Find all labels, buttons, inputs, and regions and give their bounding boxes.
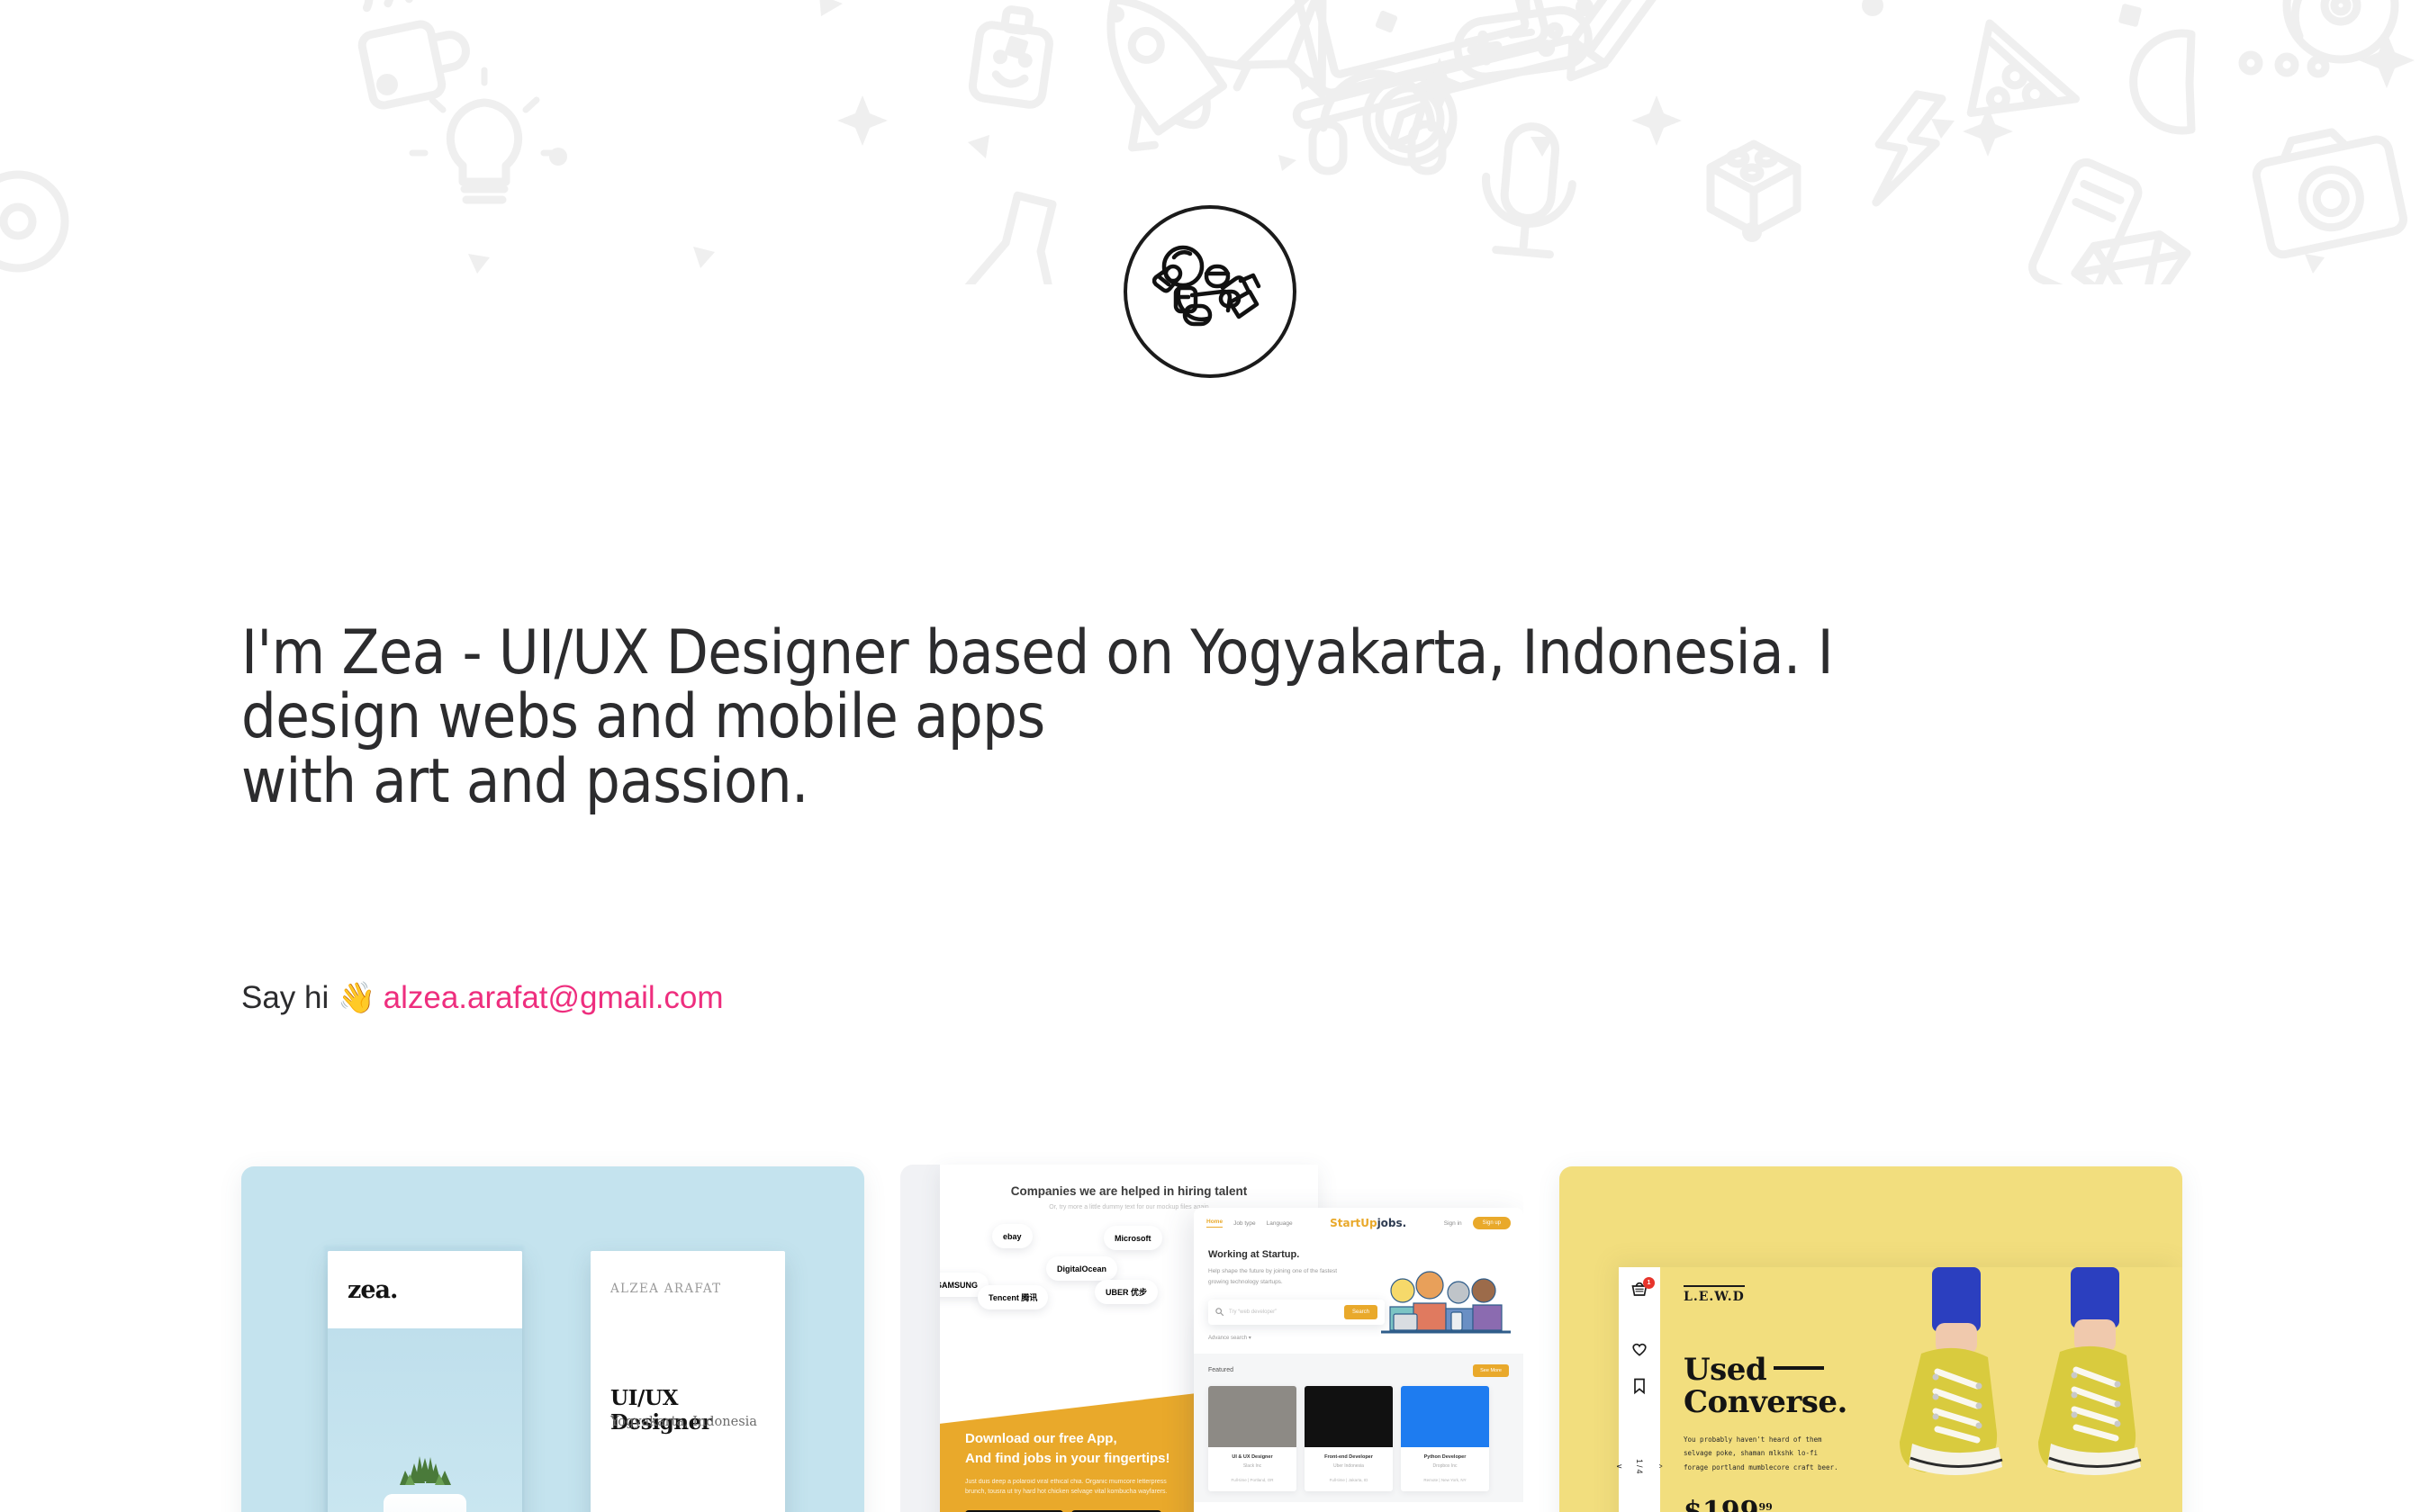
bookmark-icon [1631, 1377, 1648, 1395]
portfolio-grid: zea. A [0, 1152, 2420, 1512]
featured-section: Featured See More UI & UX Designer Slack… [1194, 1354, 1523, 1502]
card-person-name: ALZEA ARAFAT [610, 1282, 765, 1296]
startupjobs-home-page: Home Job type Language StartUpjobs. Sign… [1194, 1208, 1523, 1512]
advance-search-label: Advance search [1208, 1336, 1247, 1341]
search-button[interactable]: Search [1344, 1305, 1377, 1319]
job-card[interactable]: Python Developer Dropbox Inc Remote | Ne… [1401, 1386, 1489, 1491]
email-link[interactable]: alzea.arafat@gmail.com [384, 979, 724, 1017]
nav-item-job-type[interactable]: Job type [1233, 1220, 1256, 1227]
job-thumbnail [1208, 1386, 1296, 1447]
product-title-line-1: Used [1684, 1352, 1766, 1388]
banner-title-line-2: And find jobs in your fingertips! [965, 1451, 1169, 1466]
business-card-header: zea. [328, 1251, 522, 1328]
job-thumbnail [1401, 1386, 1489, 1447]
nav-item-home[interactable]: Home [1206, 1219, 1223, 1228]
logo-circle [1124, 205, 1296, 378]
job-company: Dropbox Inc [1406, 1463, 1484, 1469]
job-company: Uber Indonesia [1310, 1463, 1387, 1469]
featured-header: Featured See More [1208, 1364, 1509, 1377]
heart-icon [1630, 1340, 1648, 1358]
product-description: You probably haven't heard of them selva… [1684, 1433, 1846, 1474]
search-input[interactable]: Try “web developer” [1229, 1309, 1339, 1315]
plant-photo [328, 1328, 522, 1512]
product-panel: 1 ^ 1/4 ∨ [1619, 1267, 2182, 1512]
company-chip-digitalocean: DigitalOcean [1046, 1256, 1117, 1281]
job-search-bar[interactable]: Try “web developer” Search [1208, 1300, 1385, 1325]
nav-signin[interactable]: Sign in [1444, 1220, 1462, 1227]
chevron-down-icon[interactable]: ∨ [1615, 1463, 1624, 1471]
headline-line-2: design webs and mobile apps [241, 685, 2087, 749]
waving-hand-icon: 👋 [329, 983, 383, 1013]
team-illustration [1377, 1267, 1514, 1337]
job-list: UI & UX Designer Slack Inc Full-time | P… [1208, 1386, 1509, 1491]
job-card[interactable]: UI & UX Designer Slack Inc Full-time | P… [1208, 1386, 1296, 1491]
company-chip-uber: UBER 优步 [1095, 1280, 1158, 1304]
hero-section: Working at Startup. Help shape the futur… [1194, 1238, 1523, 1354]
converse-shoes-photo [1885, 1267, 2182, 1512]
plant-pot [384, 1494, 466, 1512]
headline-line-3: with art and passion. [241, 750, 2087, 814]
cart-badge: 1 [1643, 1277, 1655, 1289]
featured-label: Featured [1208, 1367, 1233, 1373]
headline-line-1: I'm Zea - UI/UX Designer based on Yogyak… [241, 621, 2087, 685]
job-footer: Full-time | Jakarta, ID [1310, 1478, 1387, 1482]
portfolio-card-personal-branding[interactable]: zea. A [241, 1166, 864, 1512]
job-title: Front-end Developer [1310, 1454, 1387, 1460]
product-sidebar: 1 ^ 1/4 ∨ [1619, 1267, 1660, 1512]
search-icon [1215, 1308, 1224, 1316]
succulent-plant-icon [387, 1454, 463, 1498]
brand-start: StartUp [1330, 1217, 1377, 1229]
logos-heading: Companies we are helped in hiring talent [940, 1184, 1318, 1198]
card-location: Yogyakarta, Indonesia [610, 1415, 757, 1429]
company-chip-tencent: Tencent 腾讯 [978, 1285, 1048, 1309]
nav-item-language[interactable]: Language [1267, 1220, 1293, 1227]
hero-body: Help shape the future by joining one of … [1208, 1266, 1357, 1289]
bookmark-button[interactable] [1631, 1377, 1648, 1399]
site-nav: Home Job type Language StartUpjobs. Sign… [1194, 1208, 1523, 1238]
page-title: I'm Zea - UI/UX Designer based on Yogyak… [241, 621, 2087, 814]
contact-line: Say hi 👋 alzea.arafat@gmail.com [241, 979, 724, 1017]
job-footer: Full-time | Portland, OR [1214, 1478, 1291, 1482]
startupjobs-brand: StartUpjobs. [1304, 1217, 1433, 1229]
job-card[interactable]: Front-end Developer Uber Indonesia Full-… [1305, 1386, 1393, 1491]
zea-logo-text: zea. [348, 1276, 397, 1304]
product-content: L.E.W.D Used Converse. You probably have… [1660, 1267, 2182, 1512]
title-dash [1774, 1366, 1824, 1370]
business-card-back: ALZEA ARAFAT UI/UX Designer Yogyakarta, … [591, 1251, 785, 1512]
see-more-button[interactable]: See More [1473, 1364, 1509, 1377]
brand-end: jobs. [1377, 1217, 1407, 1229]
product-title-line-2: Converse. [1684, 1384, 1847, 1420]
banner-body: Just duis deep a polaroid viral ethical … [965, 1477, 1172, 1498]
nav-signup-button[interactable]: Sign up [1473, 1217, 1511, 1229]
banner-title-line-1: Download our free App, [965, 1431, 1117, 1446]
astronaut-icon [1152, 241, 1268, 342]
company-chip-ebay: ebay [992, 1224, 1033, 1248]
portfolio-page: I'm Zea - UI/UX Designer based on Yogyak… [0, 0, 2420, 1512]
job-thumbnail [1305, 1386, 1393, 1447]
chevron-down-icon: ▾ [1249, 1336, 1251, 1341]
hero-title: Working at Startup. [1208, 1249, 1509, 1260]
job-footer: Remote | New York, NY [1406, 1478, 1484, 1482]
favorite-button[interactable] [1630, 1340, 1648, 1363]
company-chip-microsoft: Microsoft [1104, 1226, 1162, 1250]
pagination-label: 1/4 [1635, 1459, 1644, 1476]
job-title: Python Developer [1406, 1454, 1484, 1460]
cart-button[interactable]: 1 [1630, 1282, 1648, 1304]
portfolio-card-startupjobs[interactable]: Companies we are helped in hiring talent… [900, 1152, 1523, 1512]
product-pagination: ^ 1/4 ∨ [1615, 1459, 1664, 1476]
portfolio-card-lewd-store[interactable]: 1 ^ 1/4 ∨ [1559, 1166, 2182, 1512]
price-cents: 99 [1759, 1501, 1773, 1512]
contact-prefix: Say hi [241, 979, 329, 1017]
business-card-front: zea. [328, 1251, 522, 1512]
shop-logo: L.E.W.D [1684, 1285, 1745, 1304]
latest-jobs-header: Latest Jobs Popular jobs [1194, 1502, 1523, 1512]
job-company: Slack Inc [1214, 1463, 1291, 1469]
site-logo[interactable] [0, 205, 2420, 378]
job-title: UI & UX Designer [1214, 1454, 1291, 1460]
price-main: $199 [1684, 1496, 1759, 1512]
